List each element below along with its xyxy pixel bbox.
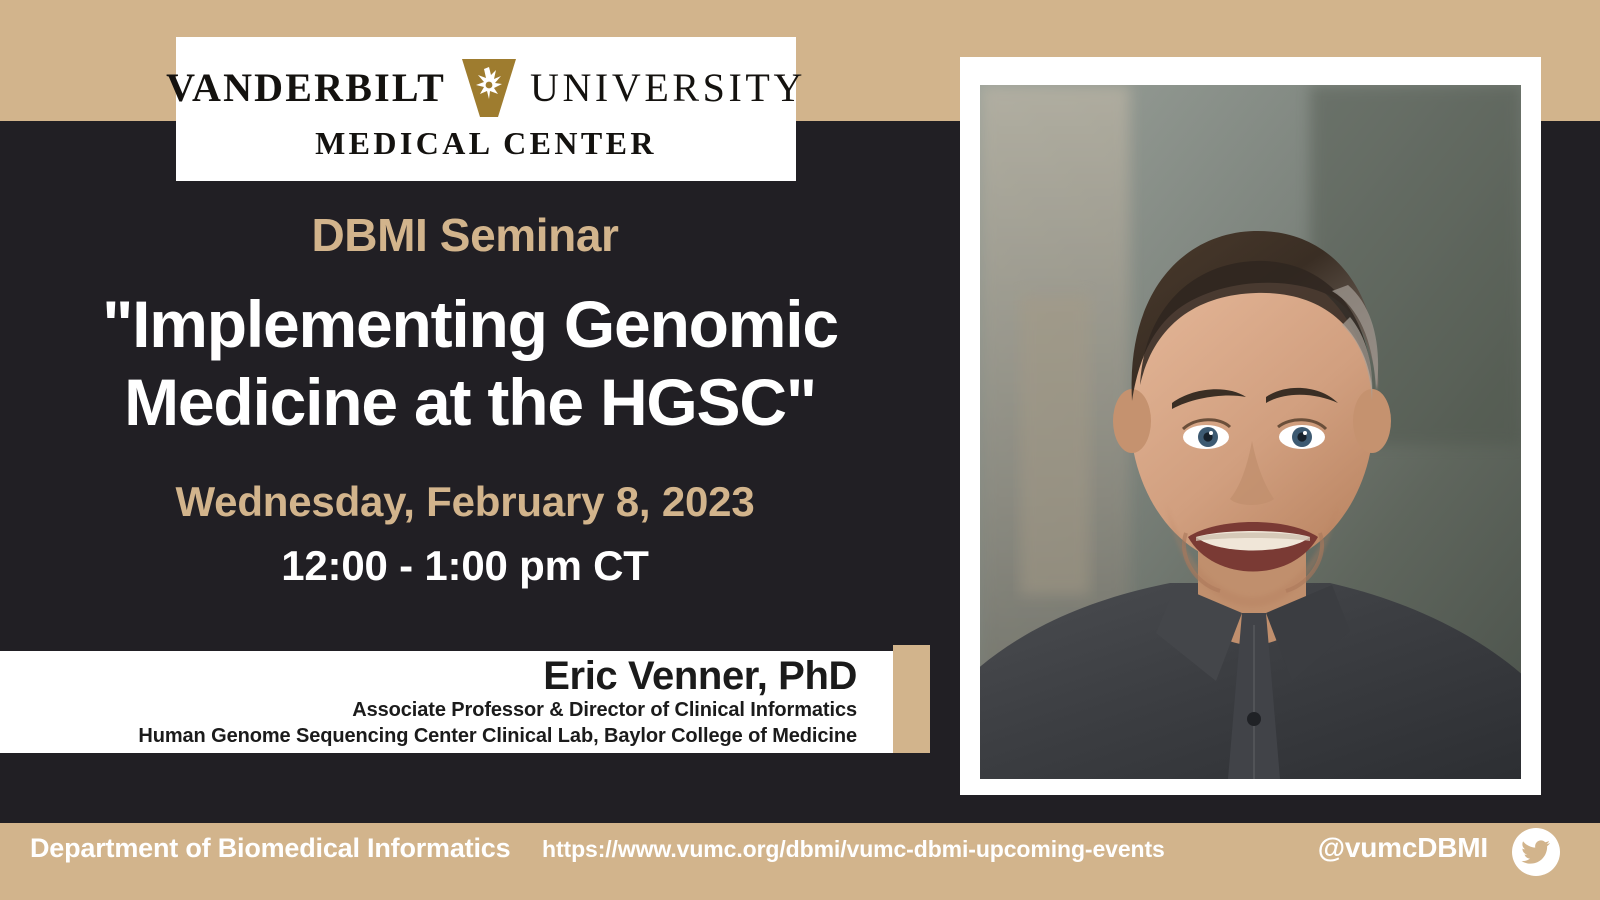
portrait-image xyxy=(980,85,1521,779)
twitter-bird-icon xyxy=(1521,837,1551,867)
portrait-white-frame xyxy=(960,57,1541,795)
speaker-role: Associate Professor & Director of Clinic… xyxy=(0,698,857,724)
vumc-logo-box: VANDERBILT UNIVERSITY MEDICAL CENTER xyxy=(176,37,796,181)
logo-word-university: UNIVERSITY xyxy=(530,64,806,111)
logo-medical-center: MEDICAL CENTER xyxy=(315,125,657,162)
seminar-flyer: VANDERBILT UNIVERSITY MEDICAL CENTER DBM… xyxy=(0,0,1600,900)
speaker-tan-accent xyxy=(893,645,930,753)
twitter-badge[interactable] xyxy=(1512,828,1560,876)
event-time: 12:00 - 1:00 pm CT xyxy=(0,542,930,590)
footer-events-url[interactable]: https://www.vumc.org/dbmi/vumc-dbmi-upco… xyxy=(542,836,1165,863)
speaker-name: Eric Venner, PhD xyxy=(0,651,857,698)
talk-title: "Implementing Genomic Medicine at the HG… xyxy=(40,286,900,442)
speaker-portrait xyxy=(980,85,1521,779)
footer-twitter-handle[interactable]: @vumcDBMI xyxy=(1318,832,1488,864)
vumc-logo-line-1: VANDERBILT UNIVERSITY xyxy=(166,57,806,119)
speaker-affiliation: Human Genome Sequencing Center Clinical … xyxy=(0,724,857,750)
vanderbilt-v-star-icon xyxy=(460,57,518,119)
seminar-kicker: DBMI Seminar xyxy=(0,208,930,262)
footer-department-label: Department of Biomedical Informatics xyxy=(30,833,510,864)
event-date: Wednesday, February 8, 2023 xyxy=(0,478,930,526)
logo-word-vanderbilt: VANDERBILT xyxy=(166,64,446,111)
speaker-info: Eric Venner, PhD Associate Professor & D… xyxy=(0,651,875,753)
